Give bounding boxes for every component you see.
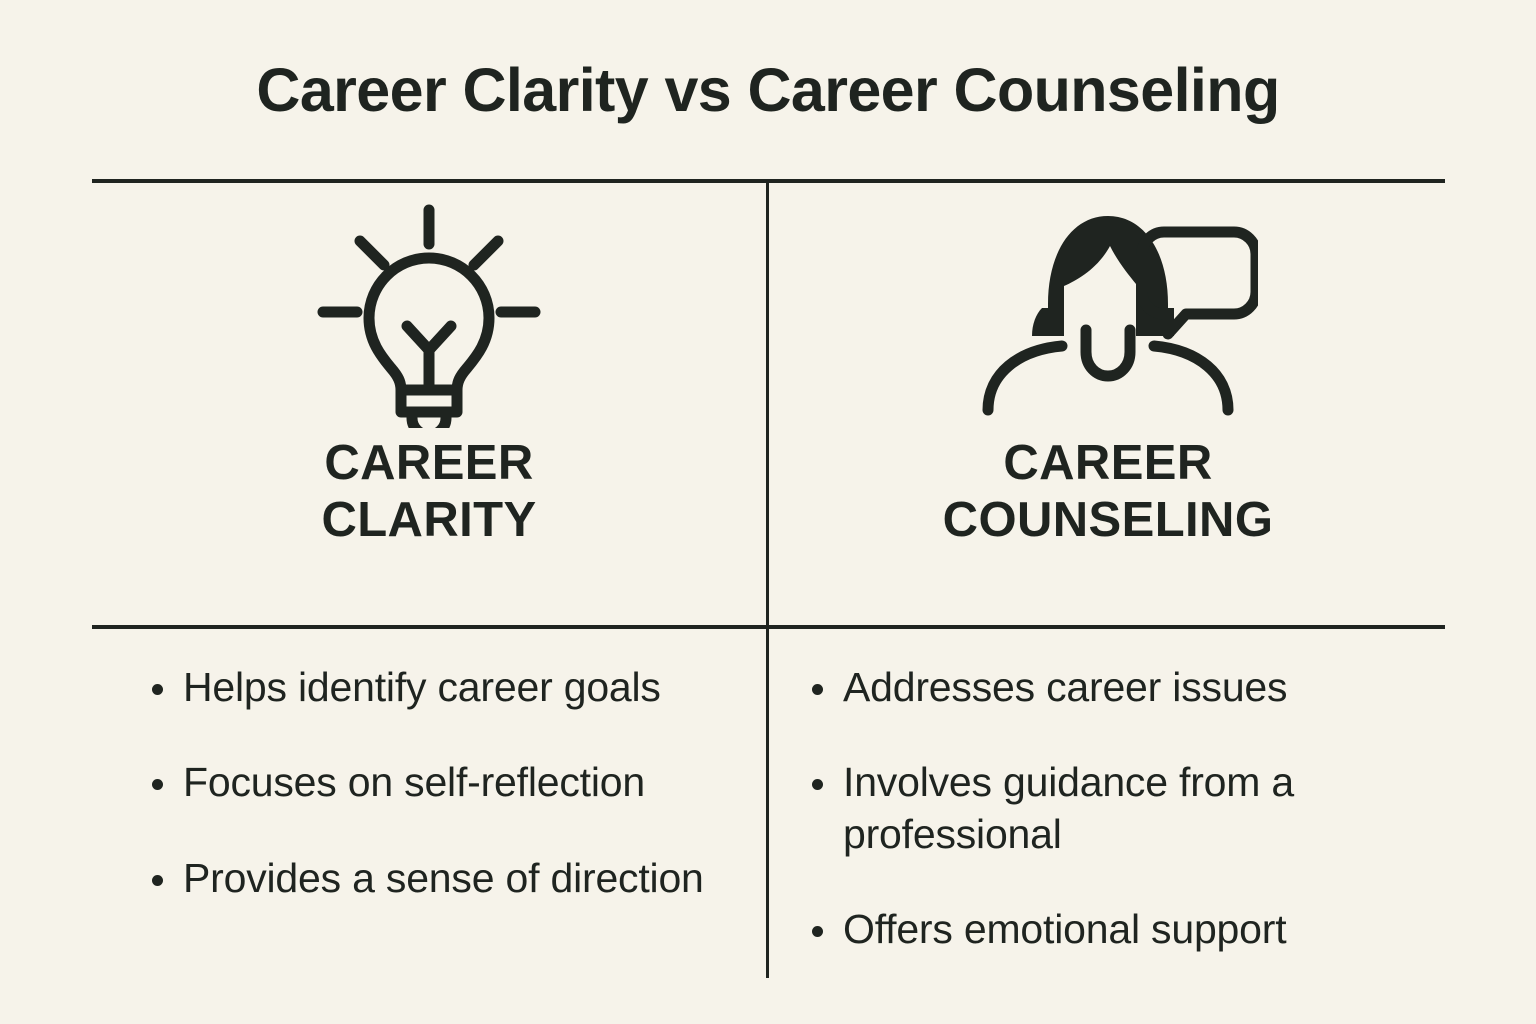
heading-line-2: CLARITY	[92, 492, 766, 549]
comparison-infographic: Career Clarity vs Career Counseling	[0, 0, 1536, 1024]
heading-line-1: CAREER	[771, 435, 1445, 492]
divider-vertical	[766, 181, 769, 978]
column-heading-career-counseling: CAREER COUNSELING	[771, 435, 1445, 550]
column-career-counseling: CAREER COUNSELING	[771, 183, 1445, 550]
list-item: Addresses career issues	[812, 662, 1412, 713]
list-item: Provides a sense of direction	[152, 853, 762, 904]
page-title: Career Clarity vs Career Counseling	[0, 58, 1536, 122]
bullet-list-career-clarity: Helps identify career goals Focuses on s…	[152, 662, 762, 904]
list-item: Helps identify career goals	[152, 662, 762, 713]
bullet-list-career-counseling: Addresses career issues Involves guidanc…	[812, 662, 1412, 955]
heading-line-2: COUNSELING	[771, 492, 1445, 549]
heading-line-1: CAREER	[92, 435, 766, 492]
list-item: Involves guidance from a professional	[812, 757, 1412, 860]
list-item: Focuses on self-reflection	[152, 757, 762, 808]
lightbulb-icon	[92, 183, 766, 441]
person-speech-bubble-icon	[771, 183, 1445, 441]
list-item: Offers emotional support	[812, 904, 1412, 955]
column-career-clarity: CAREER CLARITY	[92, 183, 766, 550]
column-heading-career-clarity: CAREER CLARITY	[92, 435, 766, 550]
